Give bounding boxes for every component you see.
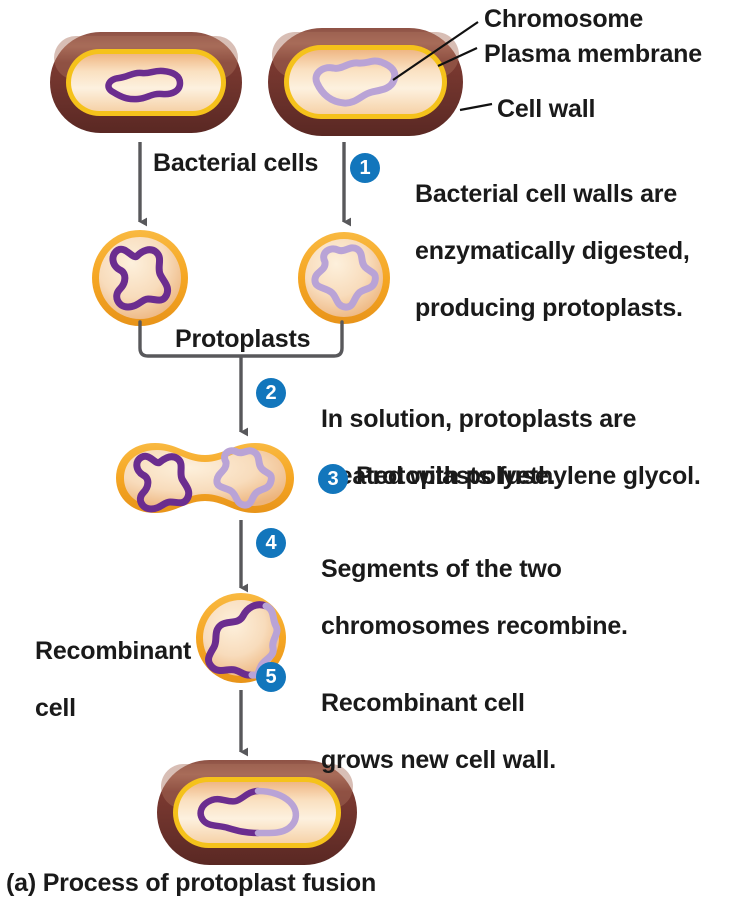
step-4-line1: Segments of the two (321, 555, 562, 583)
step-text-1: Bacterial cell walls are enzymatically d… (388, 151, 690, 351)
step-1-line1: Bacterial cell walls are (415, 180, 677, 208)
step-badge-3: 3 (318, 464, 348, 494)
step-text-4: Segments of the two chromosomes recombin… (294, 526, 628, 669)
group-label-protoplasts: Protoplasts (175, 325, 310, 354)
recombinant-cell-line2: cell (35, 694, 76, 722)
figure-caption: (a) Process of protoplast fusion (6, 869, 376, 898)
recombinant-cell-line1: Recombinant (35, 637, 191, 665)
step-badge-1: 1 (350, 153, 380, 183)
step-1-line2: enzymatically digested, (415, 237, 690, 265)
group-label-bacterial-cells: Bacterial cells (153, 149, 318, 178)
callout-label-chromosome: Chromosome (484, 5, 643, 34)
bacterial-cell-left (50, 32, 242, 133)
step-text-5: Recombinant cell grows new cell wall. (294, 660, 556, 803)
callout-label-plasma-membrane: Plasma membrane (484, 40, 702, 69)
step-text-2: In solution, protoplasts are treated wit… (294, 376, 701, 519)
step-badge-2: 2 (256, 378, 286, 408)
group-label-recombinant-cell: Recombinant cell (8, 608, 191, 751)
step-5-line2: grows new cell wall. (321, 746, 556, 774)
step-badge-5: 5 (256, 662, 286, 692)
bacterial-cell-right (268, 28, 463, 136)
step-4-line2: chromosomes recombine. (321, 612, 628, 640)
fused-protoplast (116, 443, 294, 513)
protoplast-right (298, 232, 390, 324)
step-badge-4: 4 (256, 528, 286, 558)
protoplast-left (92, 230, 188, 326)
step-text-3: Protoplasts fuse. (356, 462, 555, 491)
step-2-line1: In solution, protoplasts are (321, 405, 636, 433)
callout-label-cell-wall: Cell wall (497, 95, 595, 124)
protoplast-fusion-figure: Chromosome Plasma membrane Cell wall Bac… (0, 0, 746, 906)
step-5-line1: Recombinant cell (321, 689, 525, 717)
step-1-line3: producing protoplasts. (415, 294, 683, 322)
leader-line-cell-wall (460, 104, 492, 110)
